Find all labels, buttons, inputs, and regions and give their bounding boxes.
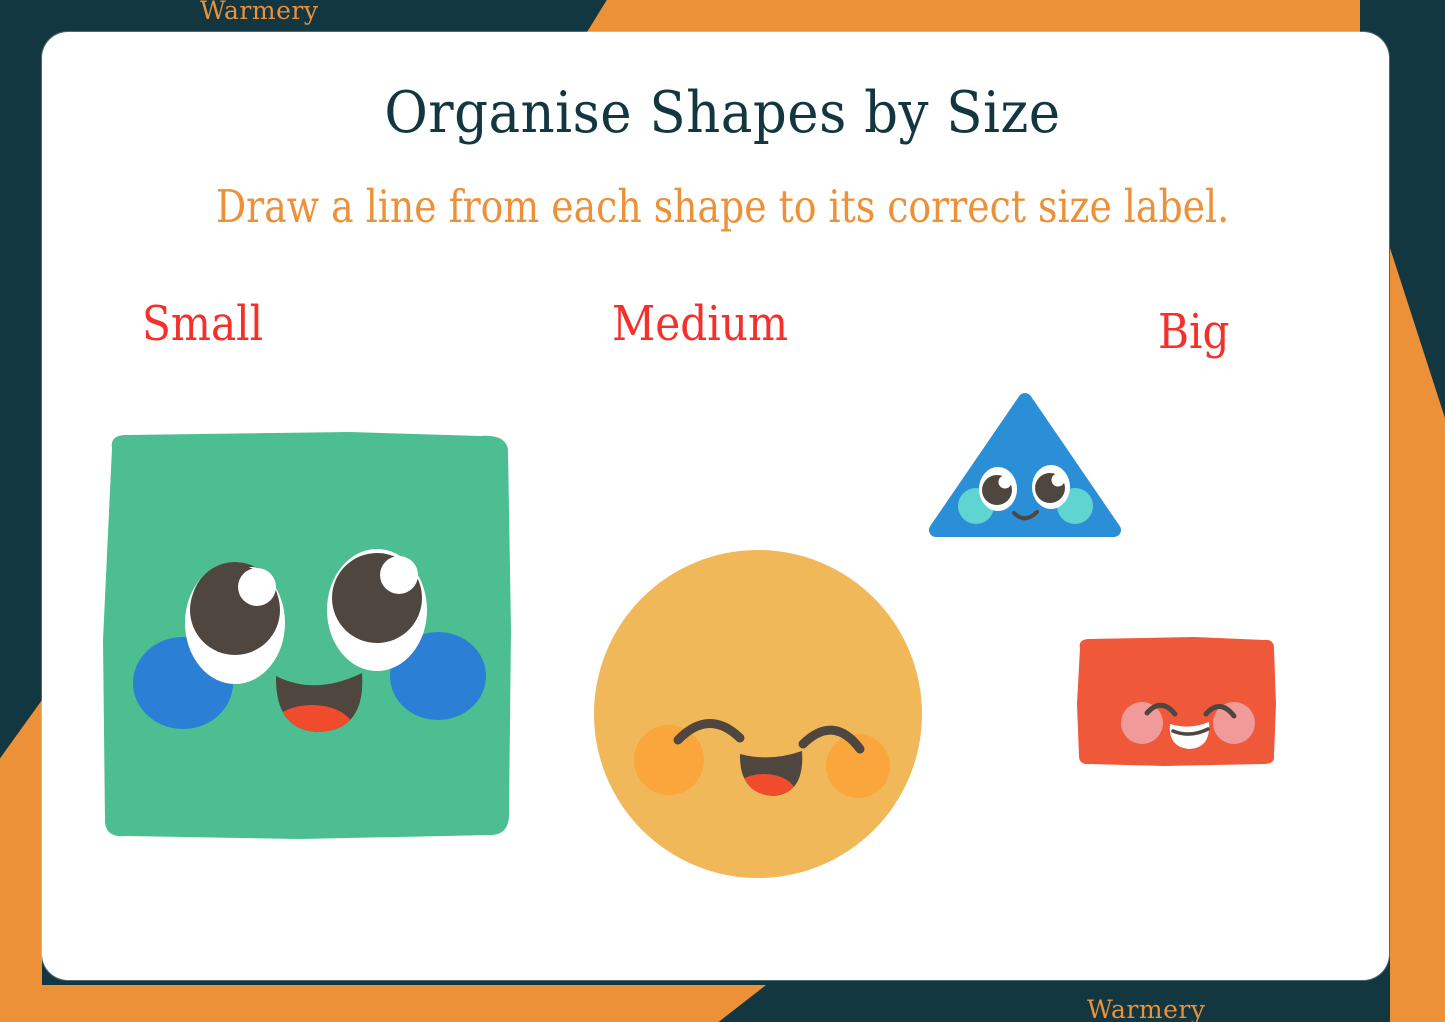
shape-blue-triangle[interactable] (918, 384, 1133, 548)
orange-banner-right (1390, 248, 1445, 1022)
circle-body (594, 550, 922, 878)
eye-left-highlight (238, 568, 276, 606)
page-subtitle: Draw a line from each shape to its corre… (116, 180, 1330, 233)
size-label-medium[interactable]: Medium (612, 296, 788, 352)
eye-right-highlight (380, 556, 418, 594)
watermark-bottom: Warmery (1087, 995, 1205, 1022)
blue-triangle-svg (918, 384, 1133, 548)
green-square-svg (100, 430, 515, 842)
shape-red-rectangle[interactable] (1074, 634, 1279, 769)
cheek-left-blush (634, 725, 704, 795)
size-label-small[interactable]: Small (142, 296, 263, 352)
orange-banner-left (0, 760, 42, 1022)
shape-green-square[interactable] (100, 430, 515, 842)
orange-banner-left-taper (0, 700, 42, 764)
size-label-big[interactable]: Big (1158, 304, 1230, 360)
red-rectangle-svg (1074, 634, 1279, 769)
eye-left-highlight (999, 476, 1012, 489)
watermark-top: Warmery (200, 0, 318, 25)
eye-right-highlight (1052, 474, 1065, 487)
orange-banner-bottom (0, 985, 766, 1022)
yellow-circle-svg (592, 548, 925, 881)
page-title: Organise Shapes by Size (51, 80, 1395, 146)
worksheet-canvas: Warmery Organise Shapes by Size Draw a l… (0, 0, 1445, 1022)
shape-yellow-circle[interactable] (592, 548, 925, 881)
rectangle-body (1077, 637, 1276, 766)
